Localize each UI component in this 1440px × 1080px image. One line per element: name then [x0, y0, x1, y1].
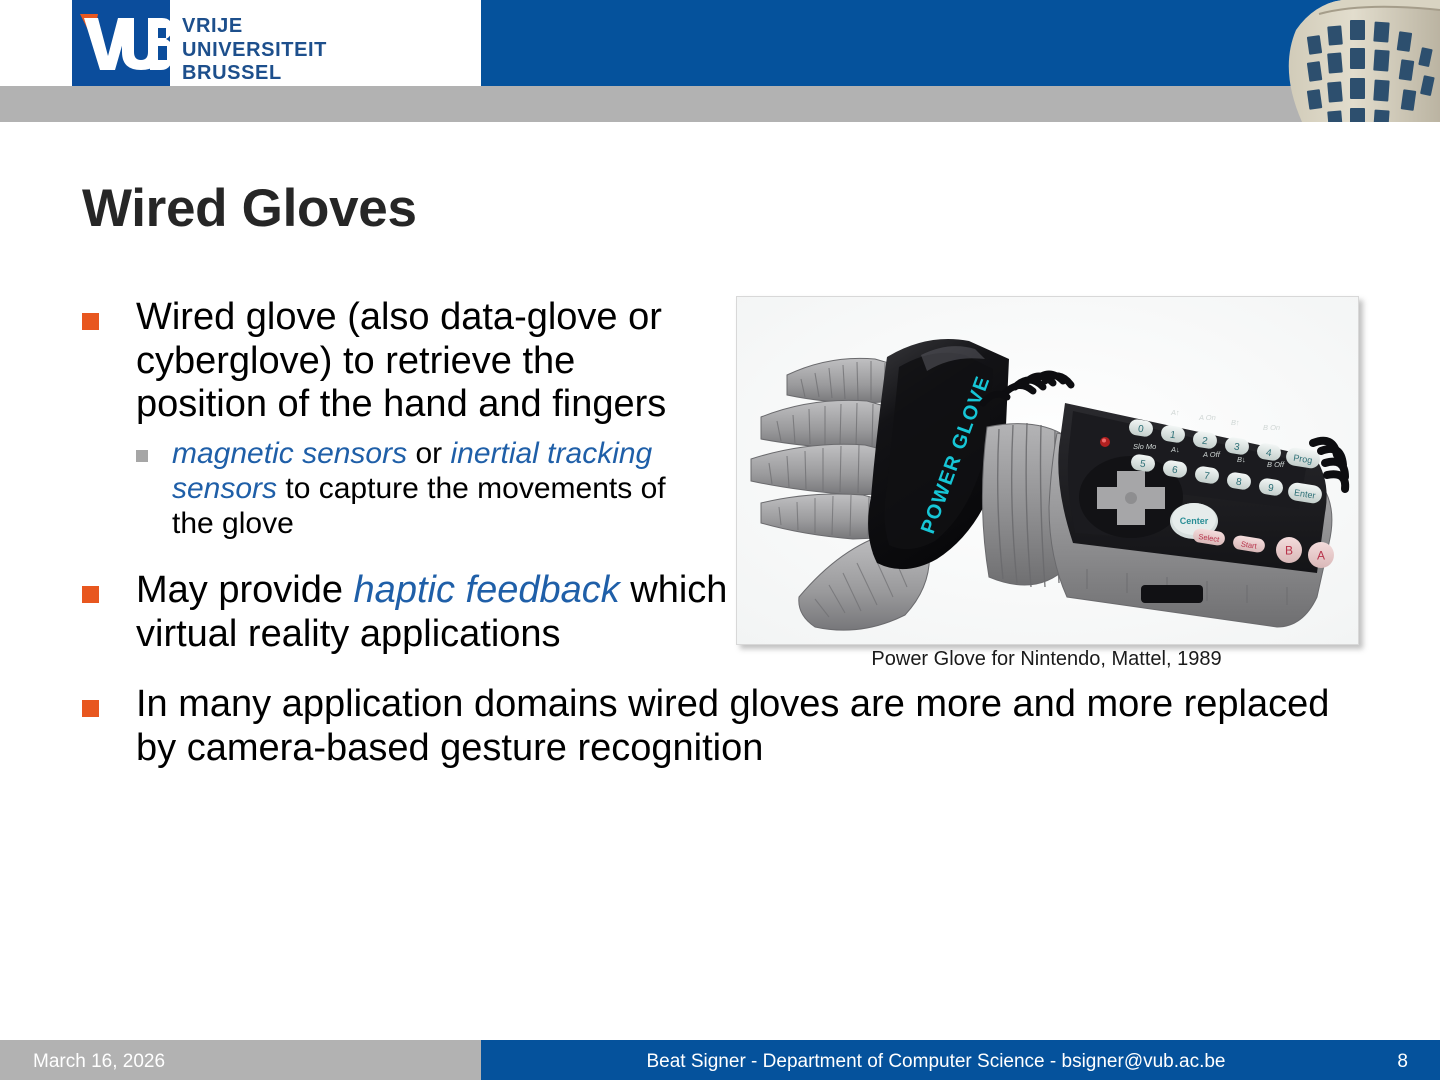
bullet-item-camera-based-replacement: In many application domains wired gloves… [82, 683, 1352, 770]
keypad-annotation: A Off [1202, 450, 1221, 459]
bullet-text: Wired glove (also data-glove or cyberglo… [136, 296, 696, 427]
keypad-annotation: B On [1263, 423, 1280, 432]
keypad-annotation: Slo Mo [1133, 442, 1156, 451]
keypad-annotation: B↓ [1237, 455, 1246, 464]
bullet-text: In many application domains wired gloves… [136, 683, 1352, 770]
vub-wordmark: VRIJE UNIVERSITEIT BRUSSEL [182, 15, 432, 86]
svg-text:Center: Center [1180, 516, 1209, 526]
wordmark-line-universiteit: UNIVERSITEIT [182, 39, 432, 63]
orange-square-bullet-icon [82, 700, 99, 717]
emphasis-haptic-feedback: haptic feedback [354, 569, 620, 611]
footer-page-number: 8 [1397, 1051, 1408, 1073]
slide-footer: March 16, 2026 Beat Signer - Department … [0, 1040, 1440, 1080]
svg-text:B: B [1285, 544, 1293, 558]
figure-caption: Power Glove for Nintendo, Mattel, 1989 [736, 648, 1357, 671]
vub-logo-icon [72, 0, 170, 86]
orange-square-bullet-icon [82, 313, 99, 330]
b-button: B [1276, 537, 1302, 563]
keypad-annotation: A↓ [1170, 445, 1180, 454]
vub-building-photo [1224, 0, 1440, 122]
keypad-annotation: A↑ [1170, 408, 1180, 417]
forearm-latch [1141, 585, 1203, 603]
keypad-annotation: A On [1198, 413, 1216, 422]
keypad-annotation: B Off [1267, 460, 1285, 469]
sub-bullet-conjunction: or [407, 437, 450, 470]
a-button: A [1308, 542, 1334, 568]
svg-text:A: A [1317, 549, 1325, 563]
emphasis-magnetic-sensors: magnetic sensors [172, 437, 407, 470]
footer-date: March 16, 2026 [33, 1051, 165, 1073]
wordmark-line-brussel: BRUSSEL [182, 62, 432, 86]
gray-square-bullet-icon [136, 450, 148, 462]
orange-square-bullet-icon [82, 586, 99, 603]
slide-header: VRIJE UNIVERSITEIT BRUSSEL [0, 0, 1440, 122]
power-glove-image: POWER GLOVE [736, 296, 1359, 645]
sub-bullet-text: magnetic sensors or inertial tracking se… [172, 437, 696, 541]
wordmark-line-vrije: VRIJE [182, 15, 432, 39]
keypad-annotation: B↑ [1231, 418, 1240, 427]
footer-author-line: Beat Signer - Department of Computer Sci… [481, 1051, 1391, 1073]
slide-title: Wired Gloves [82, 178, 417, 239]
sub-bullet-item-sensors: magnetic sensors or inertial tracking se… [136, 437, 696, 541]
bullet-lead: May provide [136, 569, 354, 611]
